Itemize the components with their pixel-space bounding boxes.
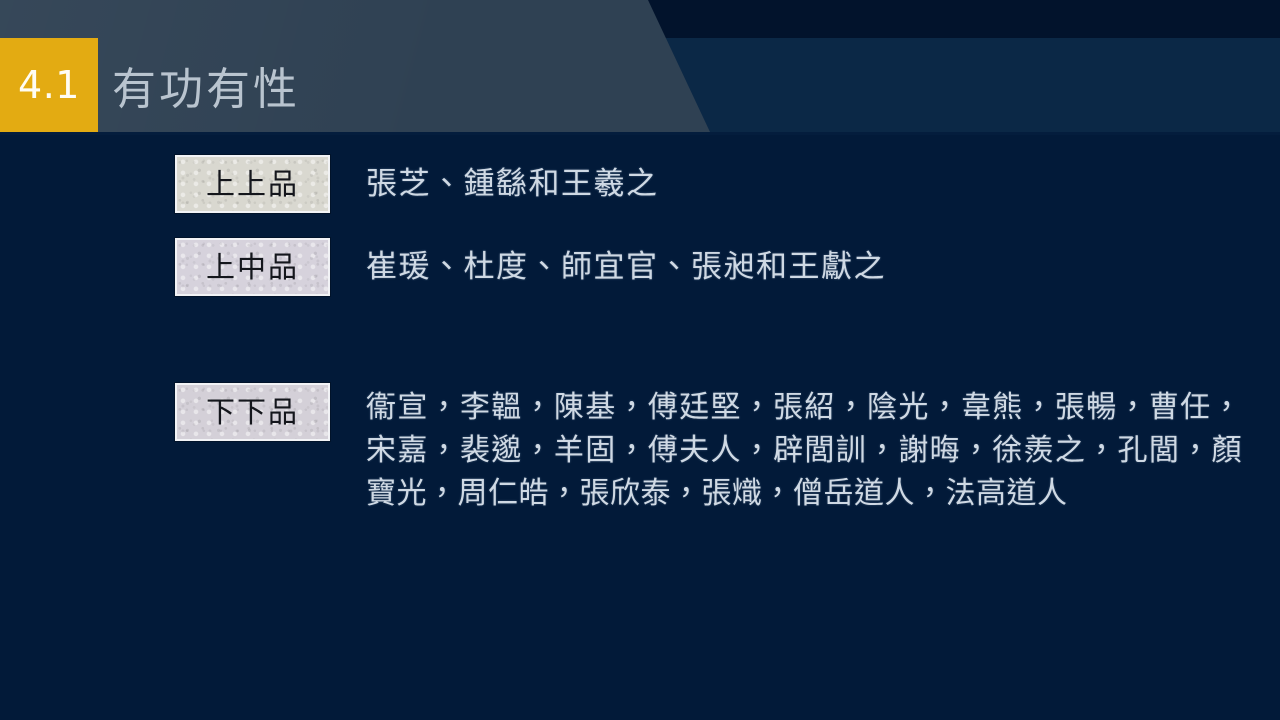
- page-title: 有功有性: [112, 38, 300, 132]
- rank-chip-label: 上上品: [206, 170, 299, 199]
- rank-names-xia-xia: 衞宣，李韞，陳基，傅廷堅，張紹，陰光，韋熊，張暢，曹任，宋嘉，裴邈，羊固，傅夫人…: [366, 386, 1242, 515]
- section-number-label: 4.1: [18, 66, 80, 104]
- rank-chip-shang-shang: 上上品: [175, 155, 330, 213]
- slide-root: 4.1 有功有性 上上品 張芝、鍾繇和王羲之 上中品 崔瑗、杜度、師宜官、張昶和…: [0, 0, 1280, 720]
- rank-chip-label: 上中品: [206, 253, 299, 282]
- rank-chip-shang-zhong: 上中品: [175, 238, 330, 296]
- header-grey-band: [0, 0, 710, 132]
- section-number-chip: 4.1: [0, 38, 98, 132]
- rank-names-shang-zhong: 崔瑗、杜度、師宜官、張昶和王獻之: [366, 252, 886, 283]
- header-underline: [0, 132, 1280, 135]
- rank-chip-xia-xia: 下下品: [175, 383, 330, 441]
- rank-chip-label: 下下品: [206, 398, 299, 427]
- page-title-label: 有功有性: [112, 53, 300, 117]
- rank-names-shang-shang: 張芝、鍾繇和王羲之: [366, 169, 659, 200]
